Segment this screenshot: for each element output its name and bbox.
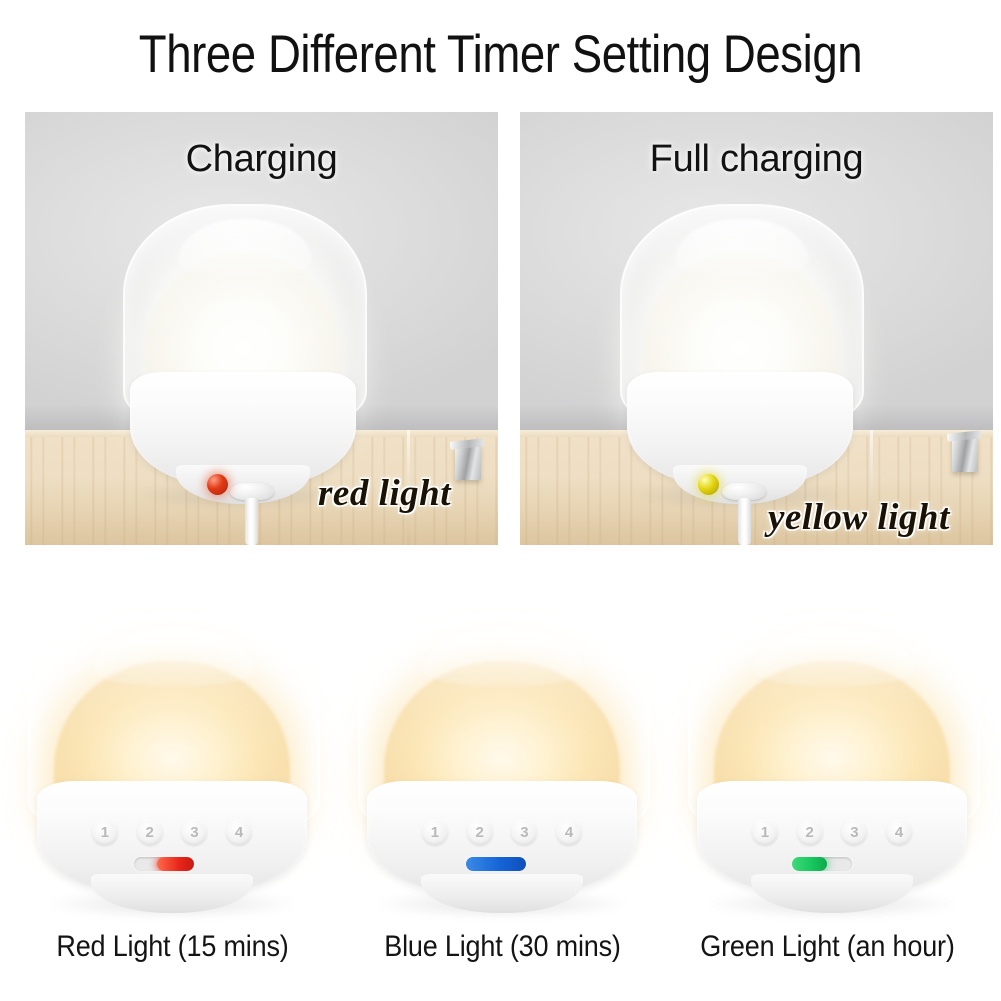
panel-caption-full-charging: Full charging bbox=[520, 138, 993, 181]
timer-button-3[interactable]: 3 bbox=[841, 819, 867, 845]
timer-button-row: 1 2 3 4 bbox=[358, 819, 646, 845]
red-indicator-bar bbox=[134, 857, 194, 871]
timer-button-3[interactable]: 3 bbox=[181, 819, 207, 845]
shell-highlight bbox=[178, 219, 312, 277]
caption-blue-light: Blue Light (30 mins) bbox=[347, 930, 658, 964]
shell-highlight bbox=[675, 219, 809, 277]
page-title: Three Different Timer Setting Design bbox=[70, 24, 931, 85]
lamp-charging bbox=[123, 204, 363, 504]
charging-photo-panel: Charging red light bbox=[25, 112, 498, 545]
timer-button-row: 1 2 3 4 bbox=[688, 819, 976, 845]
annotation-red-light: red light bbox=[318, 472, 451, 515]
shell-highlight bbox=[753, 628, 914, 686]
timer-button-4[interactable]: 4 bbox=[556, 819, 582, 845]
timer-button-2[interactable]: 2 bbox=[797, 819, 823, 845]
lamp-red-timer: 1 2 3 4 bbox=[28, 613, 316, 913]
lamp-full-charging bbox=[620, 204, 860, 504]
usb-cable bbox=[738, 498, 751, 545]
shell-highlight bbox=[423, 628, 584, 686]
chrome-clip bbox=[455, 444, 481, 480]
timer-button-2[interactable]: 2 bbox=[137, 819, 163, 845]
usb-cable bbox=[245, 498, 258, 545]
yellow-led-indicator bbox=[698, 474, 719, 495]
lamp-blue-timer: 1 2 3 4 bbox=[358, 613, 646, 913]
timer-button-1[interactable]: 1 bbox=[752, 819, 778, 845]
timer-button-2[interactable]: 2 bbox=[467, 819, 493, 845]
indicator-fill bbox=[157, 857, 194, 871]
timer-button-row: 1 2 3 4 bbox=[28, 819, 316, 845]
indicator-fill bbox=[792, 857, 827, 871]
product-infographic: Three Different Timer Setting Design Cha… bbox=[0, 0, 1001, 1001]
timer-button-4[interactable]: 4 bbox=[226, 819, 252, 845]
lamp-green-timer: 1 2 3 4 bbox=[688, 613, 976, 913]
annotation-yellow-light: yellow light bbox=[768, 496, 950, 539]
timer-button-4[interactable]: 4 bbox=[886, 819, 912, 845]
timer-button-1[interactable]: 1 bbox=[422, 819, 448, 845]
blue-indicator-bar bbox=[466, 857, 526, 871]
red-led-indicator bbox=[207, 474, 228, 495]
chrome-clip bbox=[952, 436, 978, 472]
caption-green-light: Green Light (an hour) bbox=[672, 930, 983, 964]
timer-button-3[interactable]: 3 bbox=[511, 819, 537, 845]
caption-red-light: Red Light (15 mins) bbox=[17, 930, 328, 964]
panel-caption-charging: Charging bbox=[25, 138, 498, 181]
shell-highlight bbox=[93, 628, 254, 686]
indicator-fill bbox=[466, 857, 526, 871]
timer-button-1[interactable]: 1 bbox=[92, 819, 118, 845]
full-charging-photo-panel: Full charging yellow light bbox=[520, 112, 993, 545]
green-indicator-bar bbox=[792, 857, 852, 871]
